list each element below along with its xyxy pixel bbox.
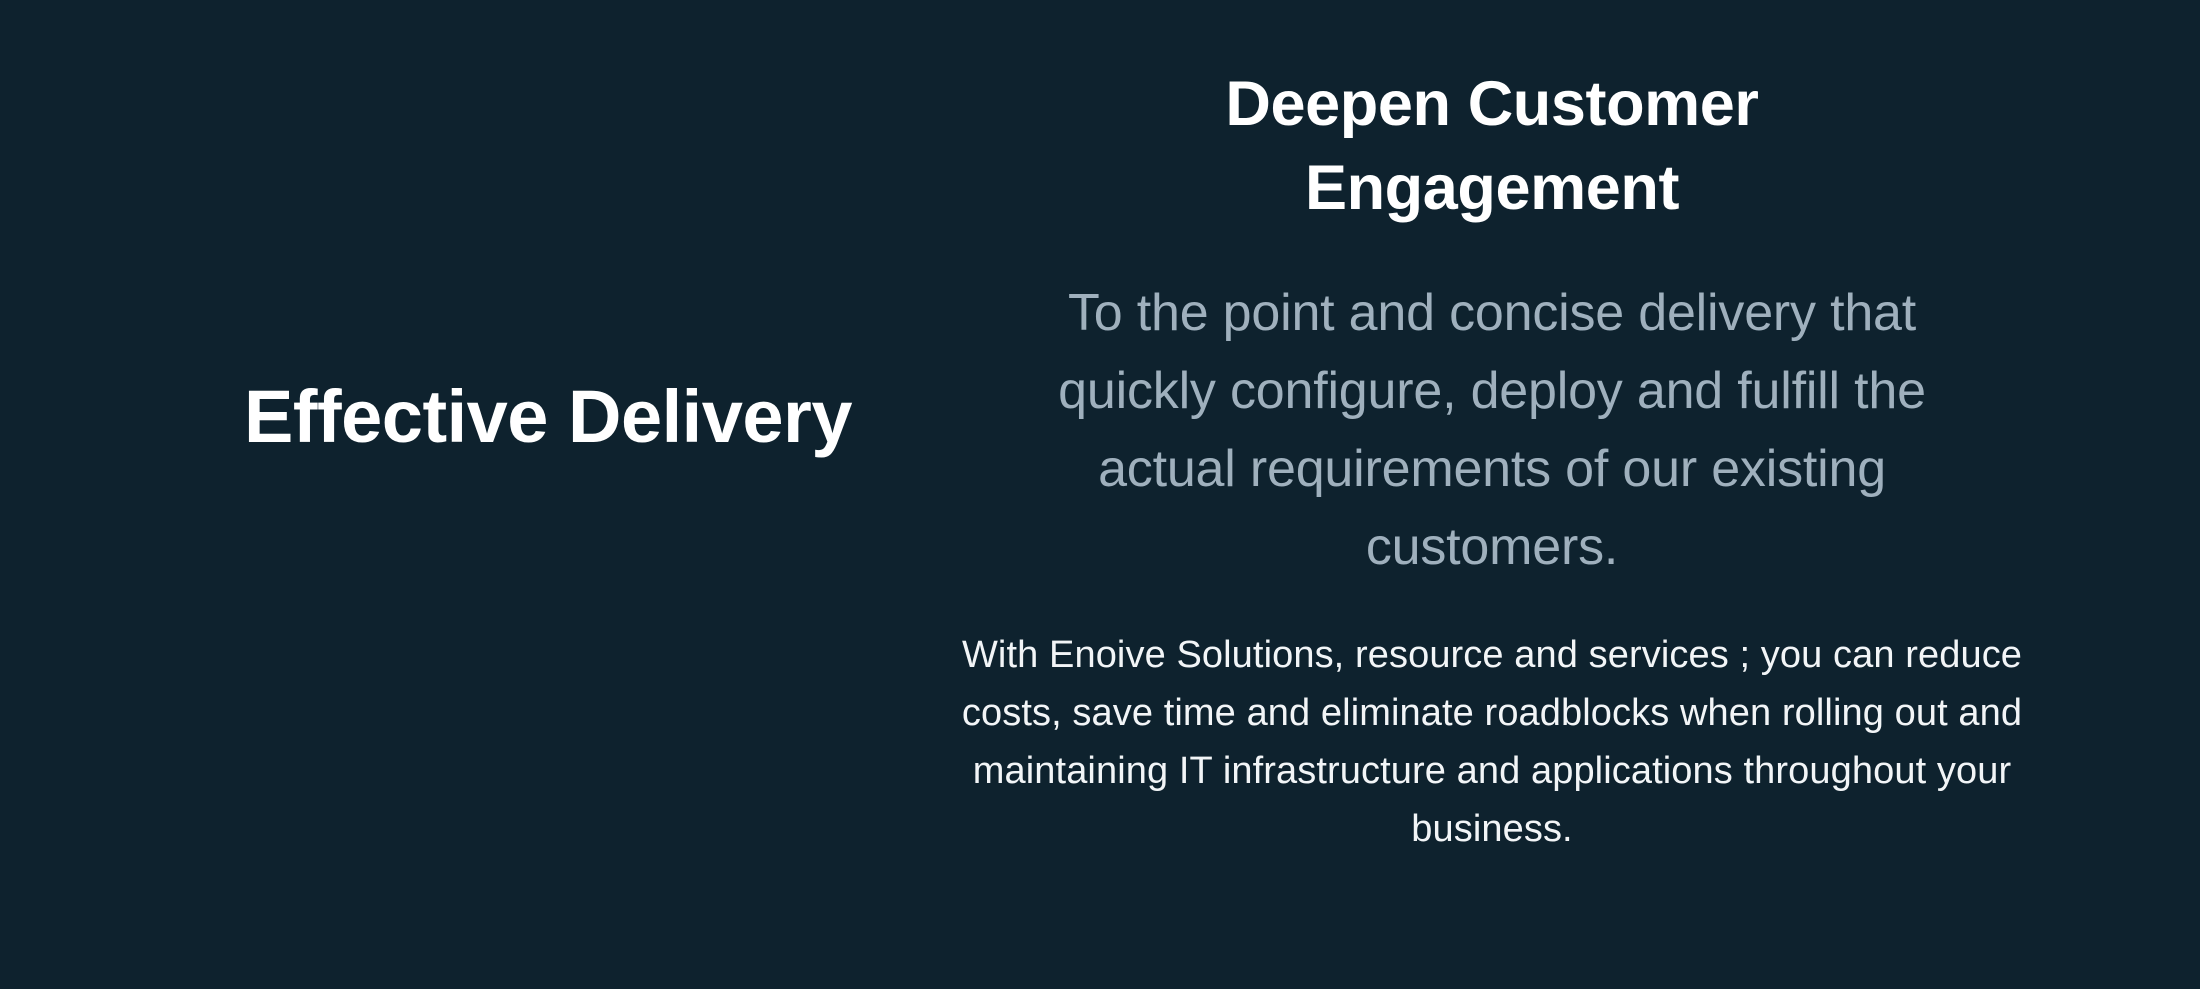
right-column: Deepen Customer Engagement To the point …: [912, 0, 2072, 989]
right-column-body-text: With Enoive Solutions, resource and serv…: [935, 626, 2050, 858]
right-column-subtitle: To the point and concise delivery that q…: [987, 274, 1997, 586]
left-column-heading: Effective Delivery: [240, 374, 856, 460]
right-column-heading: Deepen Customer Engagement: [1182, 62, 1802, 230]
slide-root: Effective Delivery Deepen Customer Engag…: [0, 0, 2200, 989]
left-column: Effective Delivery: [240, 0, 856, 989]
